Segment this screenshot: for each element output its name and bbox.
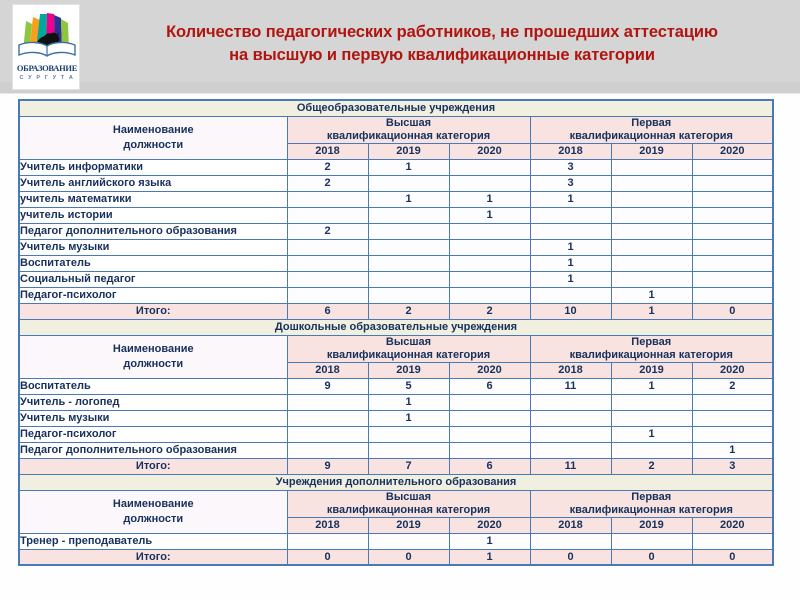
year-header-cell: 2020 [692,362,773,378]
value-cell: 1 [530,255,611,271]
year-header-cell: 2020 [449,517,530,533]
category-header-high: Высшаяквалификационная категория [287,490,530,517]
column-header-position-line2: должности [123,139,183,151]
value-cell [611,394,692,410]
total-value-cell: 0 [692,549,773,565]
value-cell: 1 [449,207,530,223]
total-value-cell: 3 [692,458,773,474]
category-header-row: НаименованиедолжностиВысшаяквалификацион… [19,335,773,362]
column-header-position: Наименованиедолжности [19,335,287,378]
value-cell [287,442,368,458]
value-cell [368,442,449,458]
table-row: Педагог дополнительного образования2 [19,223,773,239]
logo-text-main: ОБРАЗОВАНИЕ [13,63,80,73]
value-cell: 2 [287,159,368,175]
value-cell [692,287,773,303]
category-high-line2: квалификационная категория [327,349,490,361]
value-cell [530,410,611,426]
value-cell [449,394,530,410]
position-name-cell: Учитель информатики [19,159,287,175]
position-name-cell: Педагог дополнительного образования [19,223,287,239]
column-header-position-line1: Наименование [113,124,194,136]
position-name-cell: Педагог-психолог [19,426,287,442]
value-cell [611,191,692,207]
year-header-cell: 2019 [611,517,692,533]
column-header-position-line1: Наименование [113,498,194,510]
position-name-cell: Учитель музыки [19,239,287,255]
value-cell [368,175,449,191]
value-cell [449,271,530,287]
value-cell: 5 [368,378,449,394]
value-cell [530,426,611,442]
value-cell: 1 [368,159,449,175]
value-cell: 11 [530,378,611,394]
table-row: Педагог-психолог1 [19,287,773,303]
total-value-cell: 6 [287,303,368,319]
year-header-cell: 2019 [611,143,692,159]
section-banner-row: Дошкольные образовательные учреждения [19,319,773,335]
year-header-cell: 2018 [530,143,611,159]
value-cell: 1 [449,533,530,549]
position-name-cell: Социальный педагог [19,271,287,287]
value-cell [287,191,368,207]
value-cell [611,175,692,191]
category-first-line1: Первая [631,491,671,503]
value-cell [287,271,368,287]
table-row: Педагог-психолог1 [19,426,773,442]
position-name-cell: Воспитатель [19,255,287,271]
position-name-cell: Учитель музыки [19,410,287,426]
column-header-position: Наименованиедолжности [19,490,287,533]
value-cell [692,175,773,191]
position-name-cell: Учитель - логопед [19,394,287,410]
value-cell: 2 [287,175,368,191]
value-cell: 2 [287,223,368,239]
table-row: Учитель музыки1 [19,239,773,255]
category-header-high: Высшаяквалификационная категория [287,116,530,143]
category-high-line2: квалификационная категория [327,130,490,142]
total-value-cell: 0 [611,549,692,565]
value-cell: 1 [368,410,449,426]
total-row: Итого:001000 [19,549,773,565]
position-name-cell: Тренер - преподаватель [19,533,287,549]
total-value-cell: 0 [368,549,449,565]
value-cell [692,223,773,239]
value-cell [692,271,773,287]
value-cell [287,533,368,549]
page-title-line-1: Количество педагогических работников, не… [166,21,718,44]
category-first-line2: квалификационная категория [570,504,733,516]
table-row: учитель математики111 [19,191,773,207]
total-value-cell: 2 [611,458,692,474]
value-cell [692,159,773,175]
table-row: Учитель - логопед1 [19,394,773,410]
value-cell [611,533,692,549]
value-cell: 2 [692,378,773,394]
value-cell [611,239,692,255]
value-cell [287,394,368,410]
year-header-cell: 2020 [692,517,773,533]
value-cell [368,255,449,271]
category-high-line1: Высшая [386,117,431,129]
position-name-cell: Педагог-психолог [19,287,287,303]
value-cell: 1 [611,426,692,442]
total-value-cell: 9 [287,458,368,474]
value-cell [287,287,368,303]
category-first-line1: Первая [631,336,671,348]
value-cell: 1 [692,442,773,458]
total-value-cell: 7 [368,458,449,474]
year-header-cell: 2018 [530,362,611,378]
value-cell [611,159,692,175]
table-row: Учитель английского языка23 [19,175,773,191]
value-cell [368,223,449,239]
category-header-first: Перваяквалификационная категория [530,490,773,517]
total-value-cell: 2 [368,303,449,319]
table-row: Тренер - преподаватель1 [19,533,773,549]
value-cell [692,394,773,410]
category-header-first: Перваяквалификационная категория [530,335,773,362]
category-high-line2: квалификационная категория [327,504,490,516]
category-first-line2: квалификационная категория [570,349,733,361]
value-cell [692,255,773,271]
value-cell: 1 [530,239,611,255]
column-header-position-line2: должности [123,358,183,370]
position-name-cell: Воспитатель [19,378,287,394]
value-cell [611,255,692,271]
page-title: Количество педагогических работников, не… [92,14,792,74]
total-row: Итого:9761123 [19,458,773,474]
category-header-high: Высшаяквалификационная категория [287,335,530,362]
data-table: Общеобразовательные учрежденияНаименован… [18,99,774,566]
value-cell [368,239,449,255]
value-cell [368,271,449,287]
value-cell: 1 [368,394,449,410]
total-label: Итого: [19,303,287,319]
column-header-position-line2: должности [123,513,183,525]
value-cell [368,287,449,303]
value-cell [287,426,368,442]
total-value-cell: 0 [692,303,773,319]
value-cell: 9 [287,378,368,394]
year-header-cell: 2018 [530,517,611,533]
year-header-cell: 2019 [611,362,692,378]
position-name-cell: учитель истории [19,207,287,223]
category-header-row: НаименованиедолжностиВысшаяквалификацион… [19,116,773,143]
value-cell [449,159,530,175]
slide-page: ОБРАЗОВАНИЕ С У Р Г У Т А Количество пед… [0,0,800,600]
year-header-cell: 2018 [287,517,368,533]
position-name-cell: Учитель английского языка [19,175,287,191]
value-cell [368,426,449,442]
value-cell: 3 [530,175,611,191]
value-cell: 1 [530,271,611,287]
total-value-cell: 6 [449,458,530,474]
value-cell [287,410,368,426]
year-header-cell: 2019 [368,362,449,378]
value-cell [530,287,611,303]
value-cell [530,533,611,549]
value-cell: 6 [449,378,530,394]
value-cell: 1 [368,191,449,207]
value-cell [611,207,692,223]
value-cell [449,175,530,191]
value-cell [611,442,692,458]
value-cell [530,223,611,239]
value-cell [611,223,692,239]
year-header-cell: 2019 [368,517,449,533]
table-row: Социальный педагог1 [19,271,773,287]
value-cell [449,239,530,255]
value-cell [611,410,692,426]
table-row: Учитель музыки1 [19,410,773,426]
logo-graphic [13,5,80,65]
value-cell [449,410,530,426]
category-first-line1: Первая [631,117,671,129]
value-cell [368,207,449,223]
value-cell [530,442,611,458]
value-cell [287,255,368,271]
value-cell [692,239,773,255]
section-banner-row: Общеобразовательные учреждения [19,100,773,116]
year-header-cell: 2018 [287,143,368,159]
total-row: Итого:6221010 [19,303,773,319]
value-cell [449,426,530,442]
value-cell [368,533,449,549]
position-name-cell: Педагог дополнительного образования [19,442,287,458]
total-value-cell: 10 [530,303,611,319]
value-cell: 3 [530,159,611,175]
organization-logo: ОБРАЗОВАНИЕ С У Р Г У Т А [12,4,80,90]
header-divider [0,82,800,94]
value-cell [287,239,368,255]
value-cell [692,207,773,223]
value-cell [287,207,368,223]
year-header-cell: 2020 [449,362,530,378]
table-row: Воспитатель9561112 [19,378,773,394]
page-title-line-2: на высшую и первую квалификационные кате… [229,44,655,67]
section-title: Общеобразовательные учреждения [19,100,773,116]
value-cell: 1 [449,191,530,207]
value-cell [530,394,611,410]
value-cell [692,426,773,442]
table-row: учитель истории1 [19,207,773,223]
value-cell [449,255,530,271]
value-cell [449,442,530,458]
value-cell: 1 [530,191,611,207]
category-first-line2: квалификационная категория [570,130,733,142]
total-value-cell: 1 [611,303,692,319]
position-name-cell: учитель математики [19,191,287,207]
table-row: Воспитатель1 [19,255,773,271]
category-high-line1: Высшая [386,491,431,503]
total-value-cell: 1 [449,549,530,565]
year-header-cell: 2020 [449,143,530,159]
logo-text-sub: С У Р Г У Т А [13,75,80,81]
category-header-row: НаименованиедолжностиВысшаяквалификацион… [19,490,773,517]
value-cell: 1 [611,287,692,303]
year-header-cell: 2020 [692,143,773,159]
value-cell: 1 [611,378,692,394]
value-cell [692,191,773,207]
total-value-cell: 0 [287,549,368,565]
section-banner-row: Учреждения дополнительного образования [19,474,773,490]
column-header-position-line1: Наименование [113,343,194,355]
total-value-cell: 2 [449,303,530,319]
value-cell [530,207,611,223]
table-row: Педагог дополнительного образования1 [19,442,773,458]
value-cell [449,223,530,239]
total-label: Итого: [19,549,287,565]
category-header-first: Перваяквалификационная категория [530,116,773,143]
year-header-cell: 2019 [368,143,449,159]
total-label: Итого: [19,458,287,474]
value-cell [692,410,773,426]
value-cell [449,287,530,303]
attestation-table: Общеобразовательные учрежденияНаименован… [18,99,772,566]
year-header-cell: 2018 [287,362,368,378]
value-cell [692,533,773,549]
total-value-cell: 0 [530,549,611,565]
table-row: Учитель информатики213 [19,159,773,175]
section-title: Дошкольные образовательные учреждения [19,319,773,335]
total-value-cell: 11 [530,458,611,474]
section-title: Учреждения дополнительного образования [19,474,773,490]
category-high-line1: Высшая [386,336,431,348]
value-cell [611,271,692,287]
column-header-position: Наименованиедолжности [19,116,287,159]
